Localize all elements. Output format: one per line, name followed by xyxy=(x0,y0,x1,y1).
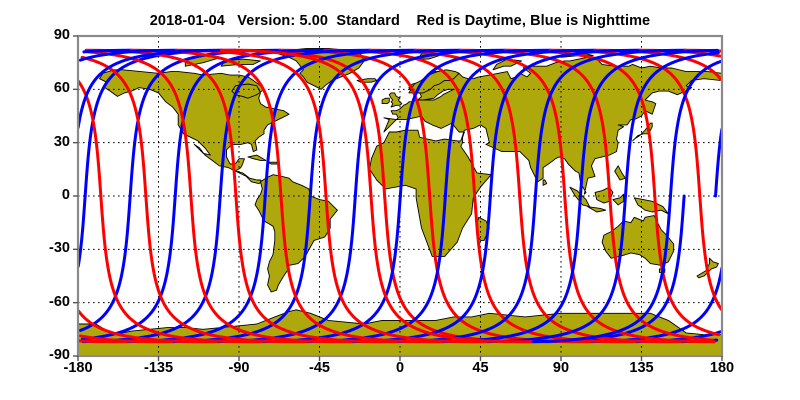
x-tick-label: 45 xyxy=(441,360,521,376)
y-tick-label: -60 xyxy=(49,294,70,310)
y-tick-label: 0 xyxy=(62,187,70,203)
x-tick-label: -135 xyxy=(119,360,199,376)
ground-track-map: 2018-01-04 Version: 5.00 Standard Red is… xyxy=(0,0,800,400)
x-tick-label: 90 xyxy=(521,360,601,376)
y-tick-label: 90 xyxy=(54,27,70,43)
page-title: 2018-01-04 Version: 5.00 Standard Red is… xyxy=(0,13,800,29)
x-tick-label: -90 xyxy=(199,360,279,376)
orbit-track-plot xyxy=(0,0,800,400)
x-tick-label: -45 xyxy=(280,360,360,376)
y-tick-label: 60 xyxy=(54,80,70,96)
x-tick-label: 135 xyxy=(602,360,682,376)
x-tick-label: -180 xyxy=(38,360,118,376)
x-tick-label: 180 xyxy=(682,360,762,376)
y-tick-label: 30 xyxy=(54,134,70,150)
y-tick-label: -30 xyxy=(49,240,70,256)
x-tick-label: 0 xyxy=(360,360,440,376)
